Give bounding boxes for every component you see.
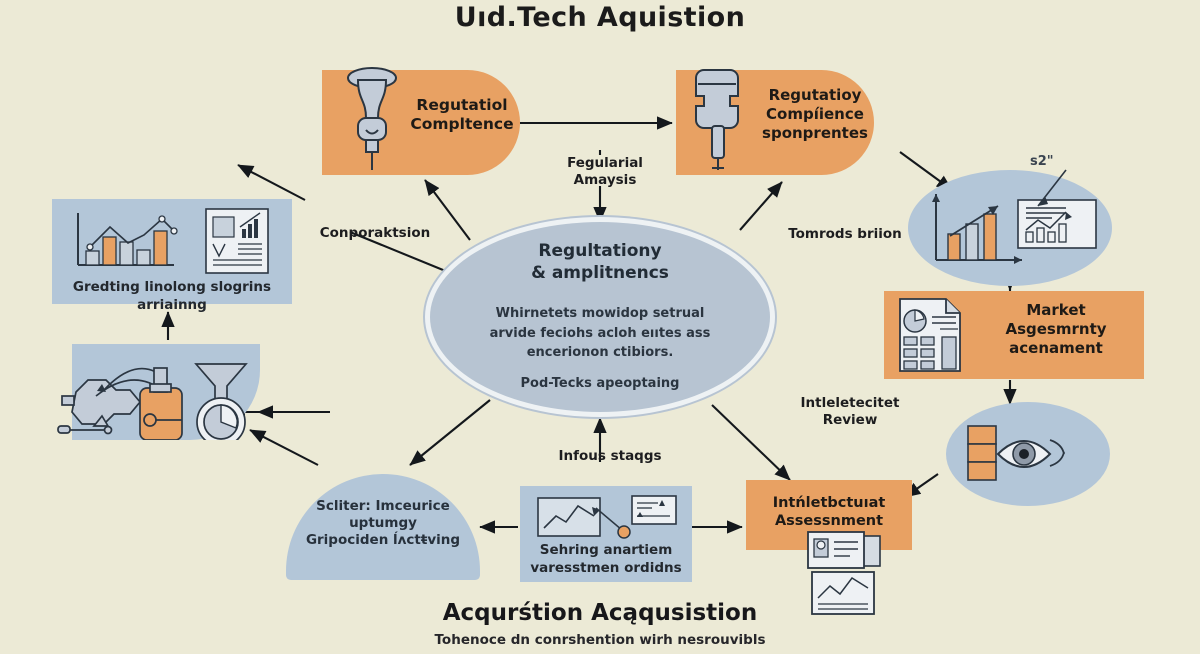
edge-label-line-2: Amaysis [545, 172, 665, 189]
edge-label-line-2: Review [770, 412, 930, 429]
core-footer: Pod-Tecks apeoptaing [430, 376, 770, 391]
label-line-2: Compíience [756, 105, 874, 124]
label-line-2: Asgesmrnty [976, 320, 1136, 339]
node-core-regulatory-capabilities[interactable]: Regultationy & amplitnencs Whirnetets mo… [430, 222, 770, 412]
node-market-assessment-label: Market Asgesmrnty acenament [976, 301, 1136, 357]
node-market-assessment[interactable]: Market Asgesmrnty acenament [884, 291, 1144, 379]
edge-label-towards: Tomrods briion [770, 226, 920, 243]
node-growth-metrics[interactable]: s2" [908, 170, 1112, 286]
label-line-2: Assessnment [746, 512, 912, 530]
label-line-2: Compltence [410, 115, 514, 134]
label-line-1: Market [976, 301, 1136, 320]
core-body-line-1: Whirnetets mowidop setrual [430, 304, 770, 324]
caption-line-2: varesstmen ordidns [520, 560, 692, 578]
node-insurance-capacity-label: Scliter: Imceurice uptumgy Gripociden ĺʌ… [286, 498, 480, 549]
panel-lab-equipment[interactable] [72, 344, 260, 440]
footer-subtitle: Tohenoce dn conrshention wirh nesrouvibl… [0, 632, 1200, 648]
node-insurance-capacity[interactable]: Scliter: Imceurice uptumgy Gripociden ĺʌ… [286, 474, 480, 580]
core-body-line-2: arvide feciohs acloh eııtes ass [430, 324, 770, 344]
lab-equipment-icon [46, 350, 266, 444]
panel-chart-insights[interactable]: Gredting linolong slogrins arriainng [52, 199, 292, 304]
microscope-icon [336, 66, 408, 178]
node-regulatory-competence[interactable]: Regutatiol Compltence [322, 70, 520, 175]
label-line-1: Regutatiol [410, 96, 514, 115]
edge-label-intellectual-review: Intleletecitet Review [770, 395, 930, 430]
node-regulatory-competence-label: Regutatiol Compltence [410, 96, 514, 135]
core-body-line-3: encerionon ctibiors. [430, 343, 770, 363]
caption-line-1: Sehring anartiem [520, 542, 692, 560]
label-line-1: Intńletbctuıat [746, 494, 912, 512]
core-title: Regultationy & amplitnencs [430, 240, 770, 284]
label-line-3: Gripociden ĺʌctŧving [286, 532, 480, 549]
label-line-3: acenament [976, 339, 1136, 358]
panel-investment-analysis-caption: Sehring anartiem varesstmen ordidns [520, 542, 692, 577]
label-line-1: Regutatioy [756, 86, 874, 105]
edge-label-regulatory-analysis: Fegularial Amaysis [545, 155, 665, 190]
edge-label-input-stages: Infous staqgs [540, 448, 680, 465]
label-line-1: Scliter: Imceurice [286, 498, 480, 515]
node-regulatory-compliance[interactable]: Regutatioy Compíience sponprentes [676, 70, 874, 175]
footer-title: Acqurśtion Acąqusistion [0, 600, 1200, 626]
page-title: Uıd.Tech Aquistion [0, 2, 1200, 33]
node-regulatory-compliance-label: Regutatioy Compíience sponprentes [756, 86, 874, 142]
panel-chart-insights-caption: Gredting linolong slogrins arriainng [52, 279, 292, 314]
core-title-line-1: Regultationy [430, 240, 770, 262]
core-title-line-2: & amplitnencs [430, 262, 770, 284]
node-review-monitoring[interactable] [946, 402, 1110, 506]
eye-review-icon [962, 418, 1096, 494]
core-body: Whirnetets mowidop setrual arvide fecioh… [430, 304, 770, 363]
drill-press-icon [684, 66, 754, 180]
panel-investment-analysis[interactable]: Sehring anartiem varesstmen ordidns [520, 486, 692, 582]
trend-analysis-icon [536, 494, 678, 544]
edge-label-line-1: Fegularial [545, 155, 665, 172]
diagram-canvas: Uıd.Tech Aquistion Regutatiol Compltence [0, 0, 1200, 654]
node-intellectual-assessment-label: Intńletbctuıat Assessnment [746, 494, 912, 530]
label-line-3: sponprentes [756, 124, 874, 143]
bar-line-chart-icon [70, 209, 180, 275]
label-line-2: uptumgy [286, 515, 480, 532]
edge-label-line-1: Intleletecitet [770, 395, 930, 412]
report-document-icon [896, 297, 966, 377]
edge-label-comparison: Conporaktsion [300, 225, 450, 242]
document-report-icon [204, 207, 270, 279]
